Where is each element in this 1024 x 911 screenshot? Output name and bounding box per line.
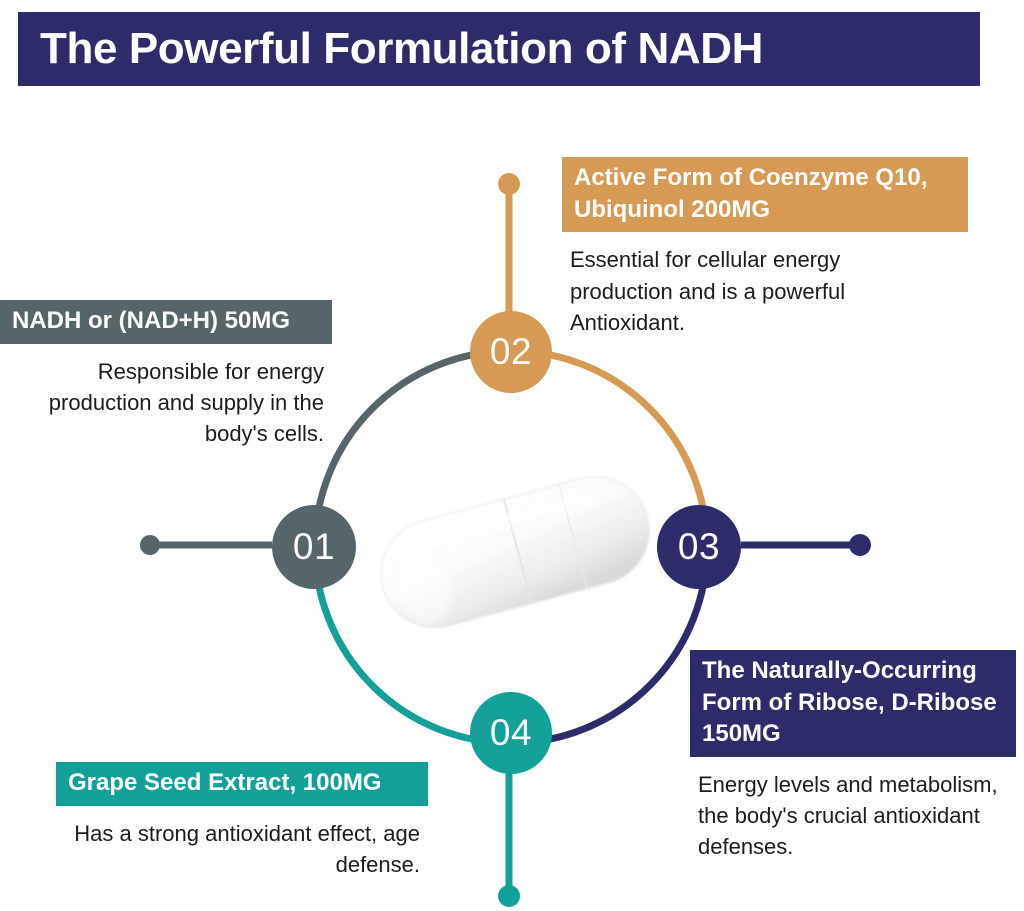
node-badge-04[interactable]: 04 bbox=[470, 692, 552, 774]
infographic-diagram: 01 02 03 04 NADH or (NAD+H) 50MG Respons… bbox=[0, 0, 1024, 911]
callout-02: Active Form of Coenzyme Q10, Ubiquinol 2… bbox=[562, 157, 982, 338]
node-badge-01-number: 01 bbox=[293, 526, 335, 568]
node-badge-02[interactable]: 02 bbox=[470, 311, 552, 393]
callout-03-label: The Naturally-Occurring Form of Ribose, … bbox=[690, 650, 1016, 757]
callout-03: The Naturally-Occurring Form of Ribose, … bbox=[690, 650, 1020, 863]
callout-02-description: Essential for cellular energy production… bbox=[562, 244, 900, 338]
capsule-image bbox=[370, 470, 660, 635]
node-badge-04-number: 04 bbox=[490, 712, 532, 754]
callout-04-description: Has a strong antioxidant effect, age def… bbox=[48, 818, 428, 880]
node-badge-03-number: 03 bbox=[678, 526, 720, 568]
node-badge-02-number: 02 bbox=[490, 331, 532, 373]
callout-04-label: Grape Seed Extract, 100MG bbox=[56, 762, 428, 806]
leader-dot-03 bbox=[849, 534, 871, 556]
leader-dot-02 bbox=[498, 173, 520, 195]
callout-01-label: NADH or (NAD+H) 50MG bbox=[0, 300, 332, 344]
callout-02-label: Active Form of Coenzyme Q10, Ubiquinol 2… bbox=[562, 157, 968, 232]
leader-dot-01 bbox=[140, 535, 160, 555]
callout-01-description: Responsible for energy production and su… bbox=[0, 356, 332, 450]
node-badge-01[interactable]: 01 bbox=[272, 505, 356, 589]
node-badge-03[interactable]: 03 bbox=[657, 505, 741, 589]
leader-dot-04 bbox=[498, 885, 520, 907]
callout-04: Grape Seed Extract, 100MG Has a strong a… bbox=[48, 762, 428, 880]
capsule-svg bbox=[370, 470, 660, 635]
callout-03-description: Energy levels and metabolism, the body's… bbox=[690, 769, 1016, 863]
callout-01: NADH or (NAD+H) 50MG Responsible for ene… bbox=[0, 300, 332, 449]
